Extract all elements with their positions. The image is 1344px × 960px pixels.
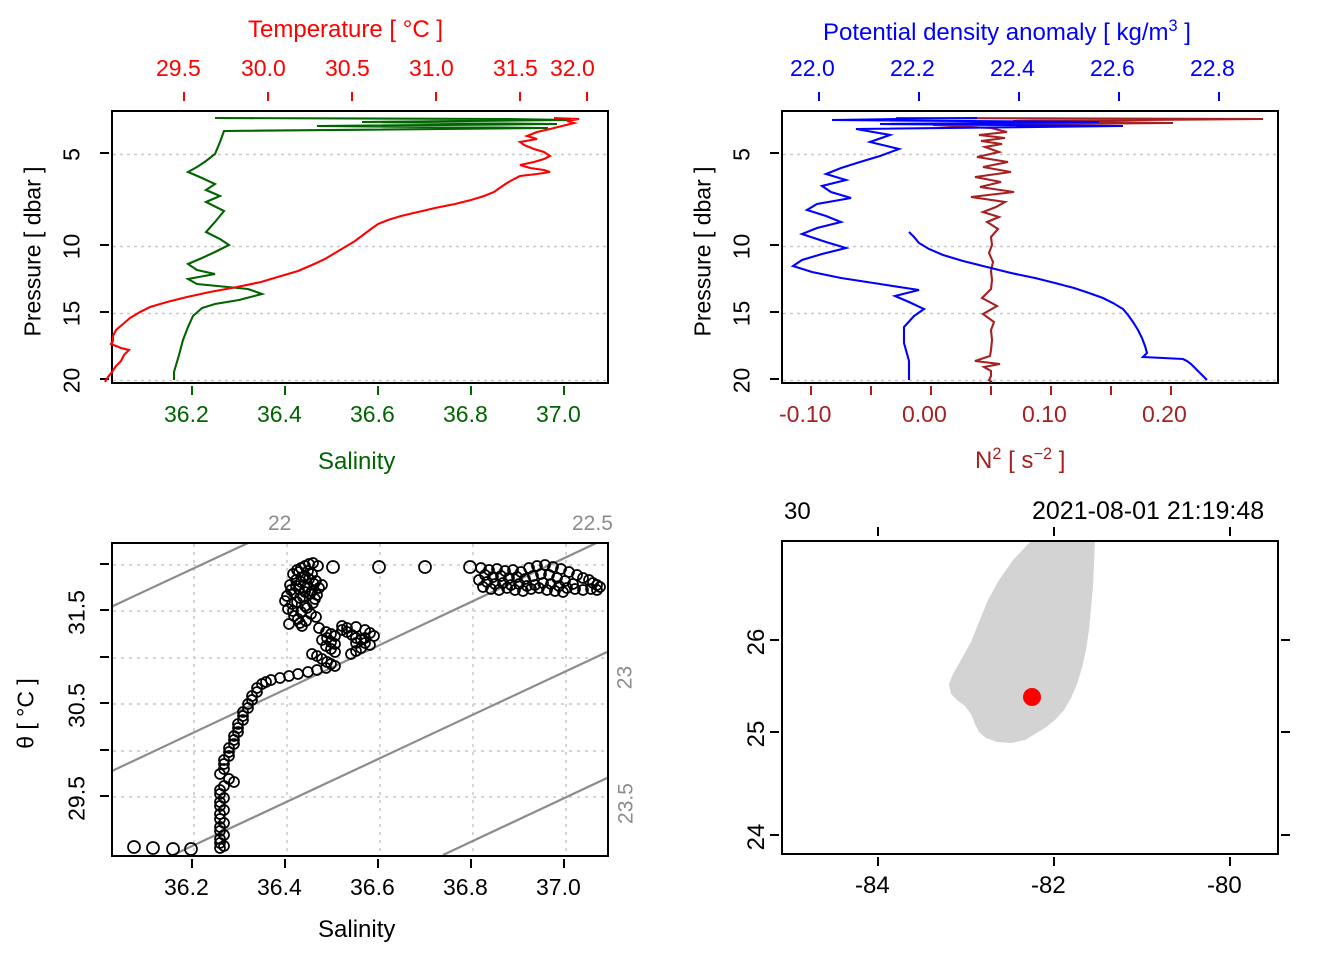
pressure2-tick-1: 10	[731, 230, 754, 264]
map-lat-tick-mark	[770, 834, 779, 836]
temp-tick-1: 30.0	[241, 57, 286, 80]
isopycnal-label-22-5: 22.5	[572, 513, 613, 534]
n2-title-mid: [ s	[1001, 447, 1033, 474]
n2-tick-mark	[1170, 386, 1172, 395]
pressure-tick-mark	[100, 244, 109, 246]
salinity-tick-mark	[284, 386, 286, 395]
map-lat-tick-24: 24	[745, 820, 769, 854]
map-top-tick	[1229, 527, 1231, 536]
salinity-tick-mark	[377, 386, 379, 395]
salinity-tick-2: 36.6	[350, 403, 395, 426]
pressure-axis-title: Pressure [ dbar ]	[22, 167, 45, 337]
pressure-tick-mark	[100, 311, 109, 313]
salinity-tick-mark	[470, 386, 472, 395]
ts-salinity-tick-2: 36.6	[350, 876, 395, 899]
theta-axis-title: θ [ °C ]	[15, 667, 38, 761]
map-lat-tick-26: 26	[745, 625, 769, 659]
density-curve	[793, 118, 1123, 380]
ts-scatter	[113, 544, 607, 855]
n2-title-sup2: −2	[1033, 445, 1052, 463]
salinity-tick-3: 36.8	[443, 403, 488, 426]
n2-title-tail: ]	[1052, 447, 1065, 474]
n2-tick-mark-minor	[870, 386, 872, 395]
map-lon-tick-1: -82	[1031, 874, 1066, 898]
density-title-base: Potential density anomaly [ kg/m	[823, 19, 1169, 46]
map-lat-tick-mark-right	[1281, 639, 1290, 641]
pressure-tick-mark	[100, 152, 109, 154]
n2-tick-mark-minor	[1110, 386, 1112, 395]
n2-tick-2: 0.10	[1022, 403, 1067, 426]
pressure2-tick-mark	[770, 244, 779, 246]
map-lon-tick-mark	[1053, 857, 1055, 866]
temp-tick-5: 32.0	[550, 57, 595, 80]
n2-tick-1: 0.00	[902, 403, 947, 426]
density-tick-0: 22.0	[790, 57, 835, 80]
ts-salinity-tick-mark	[563, 859, 565, 868]
salinity-tick-0: 36.2	[164, 403, 209, 426]
density-tick-mark	[918, 92, 920, 101]
land-polygon	[949, 537, 1095, 743]
ts-salinity-tick-mark	[284, 859, 286, 868]
temp-tick-mark	[586, 92, 588, 101]
map-lon-tick-mark	[877, 857, 879, 866]
map-title-timestamp: 2021-08-01 21:19:48	[1032, 499, 1264, 524]
ts-salinity-tick-3: 36.8	[443, 876, 488, 899]
theta-tick-31-5: 31.5	[66, 587, 89, 639]
ts-salinity-tick-1: 36.4	[257, 876, 302, 899]
density-tick-3: 22.6	[1090, 57, 1135, 80]
map-lon-tick-mark	[1229, 857, 1231, 866]
pressure-axis-title-right: Pressure [ dbar ]	[692, 167, 715, 337]
pressure2-tick-mark	[770, 378, 779, 380]
isopycnal-label-23: 23	[615, 662, 636, 694]
temp-tick-2: 30.5	[325, 57, 370, 80]
theta-tick-mark	[100, 656, 109, 658]
gridlines	[113, 155, 607, 381]
density-axis-title: Potential density anomaly [ kg/m3 ]	[823, 18, 1191, 45]
map-top-tick	[1053, 527, 1055, 536]
theta-tick-29-5: 29.5	[66, 773, 89, 825]
density-tick-4: 22.8	[1190, 57, 1235, 80]
salinity-axis-title: Salinity	[318, 450, 395, 474]
ts-points	[128, 558, 605, 855]
station-marker	[1023, 688, 1041, 706]
n2-tick-3: 0.20	[1142, 403, 1187, 426]
temp-tick-mark	[267, 92, 269, 101]
pressure-tick-1: 10	[61, 230, 84, 264]
density-curve-deep	[909, 232, 1207, 380]
ts-salinity-tick-mark	[377, 859, 379, 868]
ts-salinity-axis-title: Salinity	[318, 918, 395, 942]
temp-tick-0: 29.5	[156, 57, 201, 80]
map-contents	[783, 542, 1277, 853]
map-lat-tick-mark-right	[1281, 834, 1290, 836]
map-lon-tick-2: -80	[1207, 874, 1242, 898]
salinity-tick-4: 37.0	[536, 403, 581, 426]
n2-tick-mark	[1050, 386, 1052, 395]
profile-plot-area	[111, 110, 609, 384]
gridlines	[113, 544, 607, 855]
temp-tick-mark	[519, 92, 521, 101]
map-lat-tick-mark	[770, 731, 779, 733]
density-tick-mark	[818, 92, 820, 101]
n2-title-base: N	[975, 447, 992, 474]
temp-tick-mark	[435, 92, 437, 101]
pressure-tick-0: 5	[61, 138, 84, 172]
n2-tick-mark	[810, 386, 812, 395]
density-title-tail: ]	[1178, 19, 1191, 46]
profile-curves	[113, 112, 607, 382]
density-plot-area	[781, 110, 1279, 384]
density-title-sup: 3	[1169, 17, 1178, 35]
pressure2-tick-3: 20	[731, 364, 754, 398]
ts-plot-area	[111, 542, 609, 857]
ts-salinity-tick-mark	[470, 859, 472, 868]
ts-salinity-tick-0: 36.2	[164, 876, 209, 899]
theta-tick-mark	[100, 749, 109, 751]
ts-salinity-tick-mark	[191, 859, 193, 868]
isopycnal-label-22: 22	[268, 513, 291, 534]
theta-tick-mark	[100, 609, 109, 611]
gridlines	[783, 155, 1277, 381]
map-plot-area	[781, 540, 1279, 855]
map-top-tick	[877, 527, 879, 536]
pressure-tick-2: 15	[61, 297, 84, 331]
salinity-curve	[174, 118, 571, 380]
map-lat-tick-mark-right	[1281, 731, 1290, 733]
temperature-axis-title: Temperature [ °C ]	[248, 18, 443, 42]
map-lat-tick-25: 25	[745, 717, 769, 751]
salinity-tick-mark	[563, 386, 565, 395]
theta-tick-30-5: 30.5	[66, 680, 89, 732]
theta-tick-mark	[100, 795, 109, 797]
salinity-tick-1: 36.4	[257, 403, 302, 426]
salinity-tick-mark	[191, 386, 193, 395]
density-tick-mark	[1218, 92, 1220, 101]
density-curves	[783, 112, 1277, 382]
map-lon-tick-0: -84	[855, 874, 890, 898]
pressure2-tick-2: 15	[731, 297, 754, 331]
pressure2-tick-mark	[770, 311, 779, 313]
map-lat-tick-mark	[770, 639, 779, 641]
density-tick-1: 22.2	[890, 57, 935, 80]
temp-tick-mark	[351, 92, 353, 101]
density-tick-mark	[1018, 92, 1020, 101]
n2-tick-mark	[930, 386, 932, 395]
ts-salinity-tick-4: 37.0	[536, 876, 581, 899]
n2-tick-mark-minor	[990, 386, 992, 395]
theta-tick-mark	[100, 702, 109, 704]
temp-tick-4: 31.5	[493, 57, 538, 80]
pressure-tick-3: 20	[61, 364, 84, 398]
temperature-curve	[105, 118, 579, 382]
n2-axis-title: N2 [ s−2 ]	[975, 446, 1065, 473]
isopycnal-label-23-5: 23.5	[616, 782, 637, 826]
map-corner-label: 30	[784, 500, 811, 524]
pressure2-tick-0: 5	[731, 138, 754, 172]
temp-tick-3: 31.0	[409, 57, 454, 80]
theta-tick-mark	[100, 563, 109, 565]
pressure2-tick-mark	[770, 152, 779, 154]
density-tick-2: 22.4	[990, 57, 1035, 80]
n2-tick-0: -0.10	[779, 403, 831, 426]
temp-tick-mark	[183, 92, 185, 101]
density-tick-mark	[1118, 92, 1120, 101]
n2-curve	[896, 118, 1263, 382]
